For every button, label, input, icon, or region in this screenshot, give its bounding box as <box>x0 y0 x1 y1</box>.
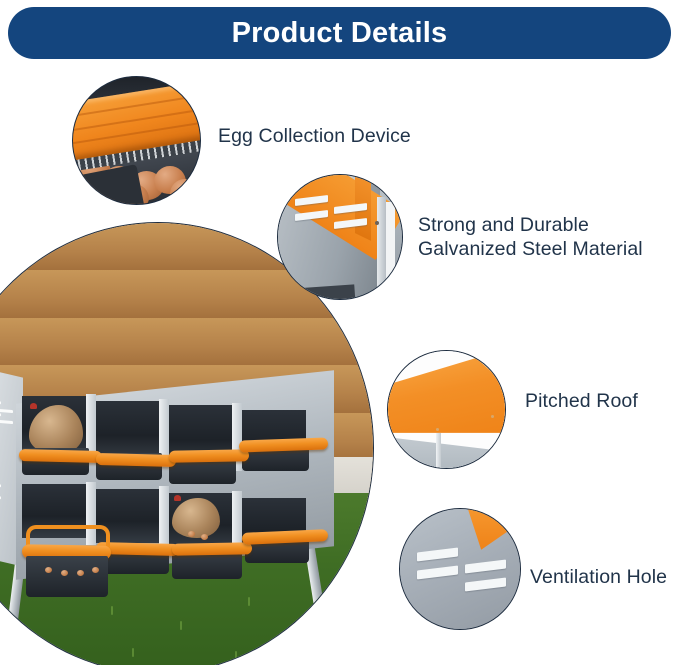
perch-rail <box>95 453 175 467</box>
page-title: Product Details <box>232 19 448 48</box>
perch-rail <box>169 450 249 463</box>
callout-image-ventilation-hole <box>399 508 521 630</box>
product-details-infographic: Product Details <box>0 0 679 665</box>
callout-image-galvanized-steel <box>277 174 403 300</box>
callout-label-pitched-roof: Pitched Roof <box>525 389 638 413</box>
chicken-nesting-box <box>16 358 334 583</box>
header-banner: Product Details <box>8 7 671 59</box>
callout-label-ventilation-hole: Ventilation Hole <box>530 565 667 589</box>
callout-label-galvanized-steel: Strong and Durable Galvanized Steel Mate… <box>418 213 643 261</box>
perch-rail <box>172 542 252 555</box>
egg-collection-drawer <box>26 556 109 597</box>
cell-divider <box>159 486 169 549</box>
callout-label-egg-collection: Egg Collection Device <box>218 124 411 148</box>
hen-comb <box>174 495 181 501</box>
hen-comb <box>30 403 37 409</box>
nest-cell <box>96 401 160 460</box>
callout-image-pitched-roof <box>387 350 506 469</box>
perch-rail <box>19 449 102 463</box>
callout-image-egg-collection <box>72 76 201 205</box>
